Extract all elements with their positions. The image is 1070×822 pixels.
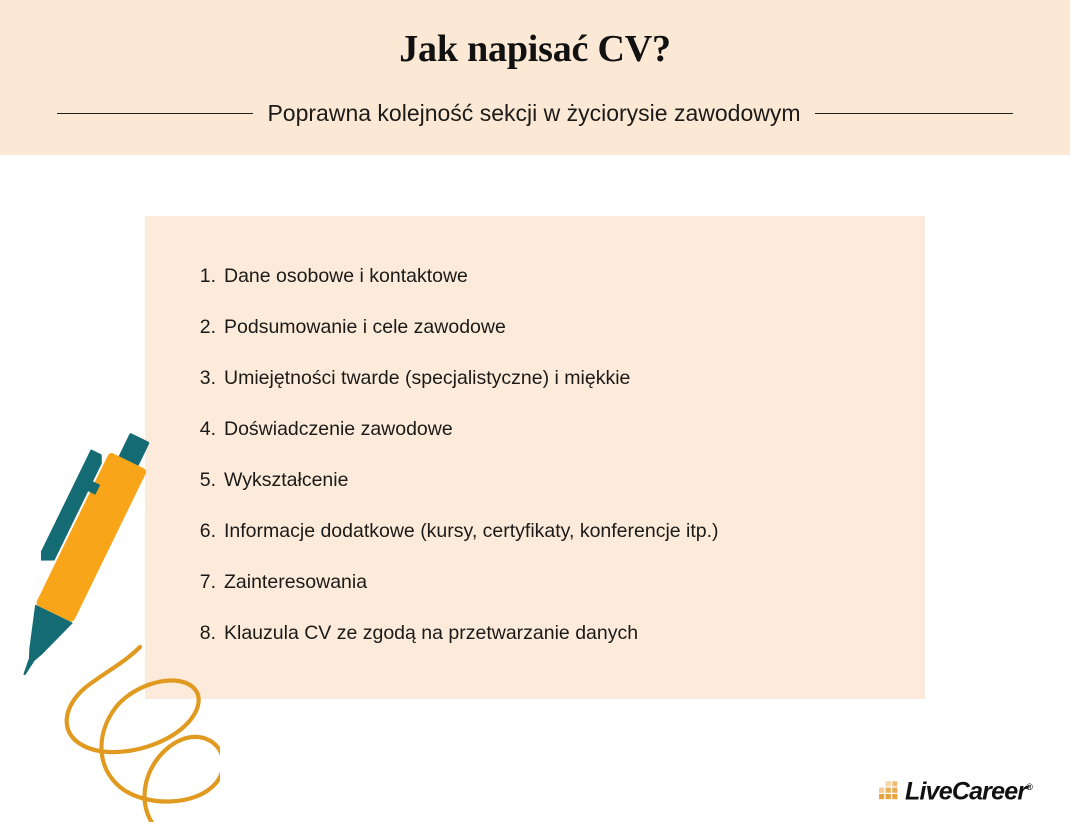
step-label: Podsumowanie i cele zawodowe	[224, 314, 506, 340]
step-label: Wykształcenie	[224, 467, 348, 493]
list-item: 6. Informacje dodatkowe (kursy, certyfik…	[194, 518, 894, 569]
list-item: 4. Doświadczenie zawodowe	[194, 416, 894, 467]
infographic-canvas: Jak napisać CV? Poprawna kolejność sekcj…	[0, 0, 1070, 822]
step-number: 2.	[194, 314, 216, 340]
step-label: Dane osobowe i kontaktowe	[224, 263, 468, 289]
subtitle-rule-left	[57, 113, 253, 114]
step-number: 8.	[194, 620, 216, 646]
page-subtitle: Poprawna kolejność sekcji w życiorysie z…	[267, 98, 800, 128]
livecareer-wordmark: LiveCareer®	[905, 774, 1032, 804]
step-label: Umiejętności twarde (specjalistyczne) i …	[224, 365, 630, 391]
list-item: 7. Zainteresowania	[194, 569, 894, 620]
list-item: 1. Dane osobowe i kontaktowe	[194, 263, 894, 314]
step-label: Zainteresowania	[224, 569, 367, 595]
list-item: 8. Klauzula CV ze zgodą na przetwarzanie…	[194, 620, 894, 671]
step-label: Klauzula CV ze zgodą na przetwarzanie da…	[224, 620, 638, 646]
ballpoint-pen-icon	[20, 420, 159, 684]
list-item: 5. Wykształcenie	[194, 467, 894, 518]
step-label: Informacje dodatkowe (kursy, certyfikaty…	[224, 518, 719, 544]
list-item: 2. Podsumowanie i cele zawodowe	[194, 314, 894, 365]
page-title: Jak napisać CV?	[0, 26, 1070, 72]
steps-list: 1. Dane osobowe i kontaktowe 2. Podsumow…	[194, 263, 894, 671]
livecareer-logo[interactable]: LiveCareer®	[878, 772, 1053, 806]
subtitle-row: Poprawna kolejność sekcji w życiorysie z…	[0, 96, 1070, 130]
subtitle-rule-right	[815, 113, 1013, 114]
step-number: 7.	[194, 569, 216, 595]
step-number: 3.	[194, 365, 216, 391]
step-number: 1.	[194, 263, 216, 289]
step-number: 5.	[194, 467, 216, 493]
logo-text-label: LiveCareer	[905, 777, 1026, 805]
step-number: 4.	[194, 416, 216, 442]
livecareer-squares-icon	[878, 777, 902, 801]
step-label: Doświadczenie zawodowe	[224, 416, 453, 442]
list-item: 3. Umiejętności twarde (specjalistyczne)…	[194, 365, 894, 416]
steps-panel: 1. Dane osobowe i kontaktowe 2. Podsumow…	[145, 216, 925, 699]
step-number: 6.	[194, 518, 216, 544]
header-band: Jak napisać CV? Poprawna kolejność sekcj…	[0, 0, 1070, 155]
trademark-symbol: ®	[1026, 782, 1032, 792]
